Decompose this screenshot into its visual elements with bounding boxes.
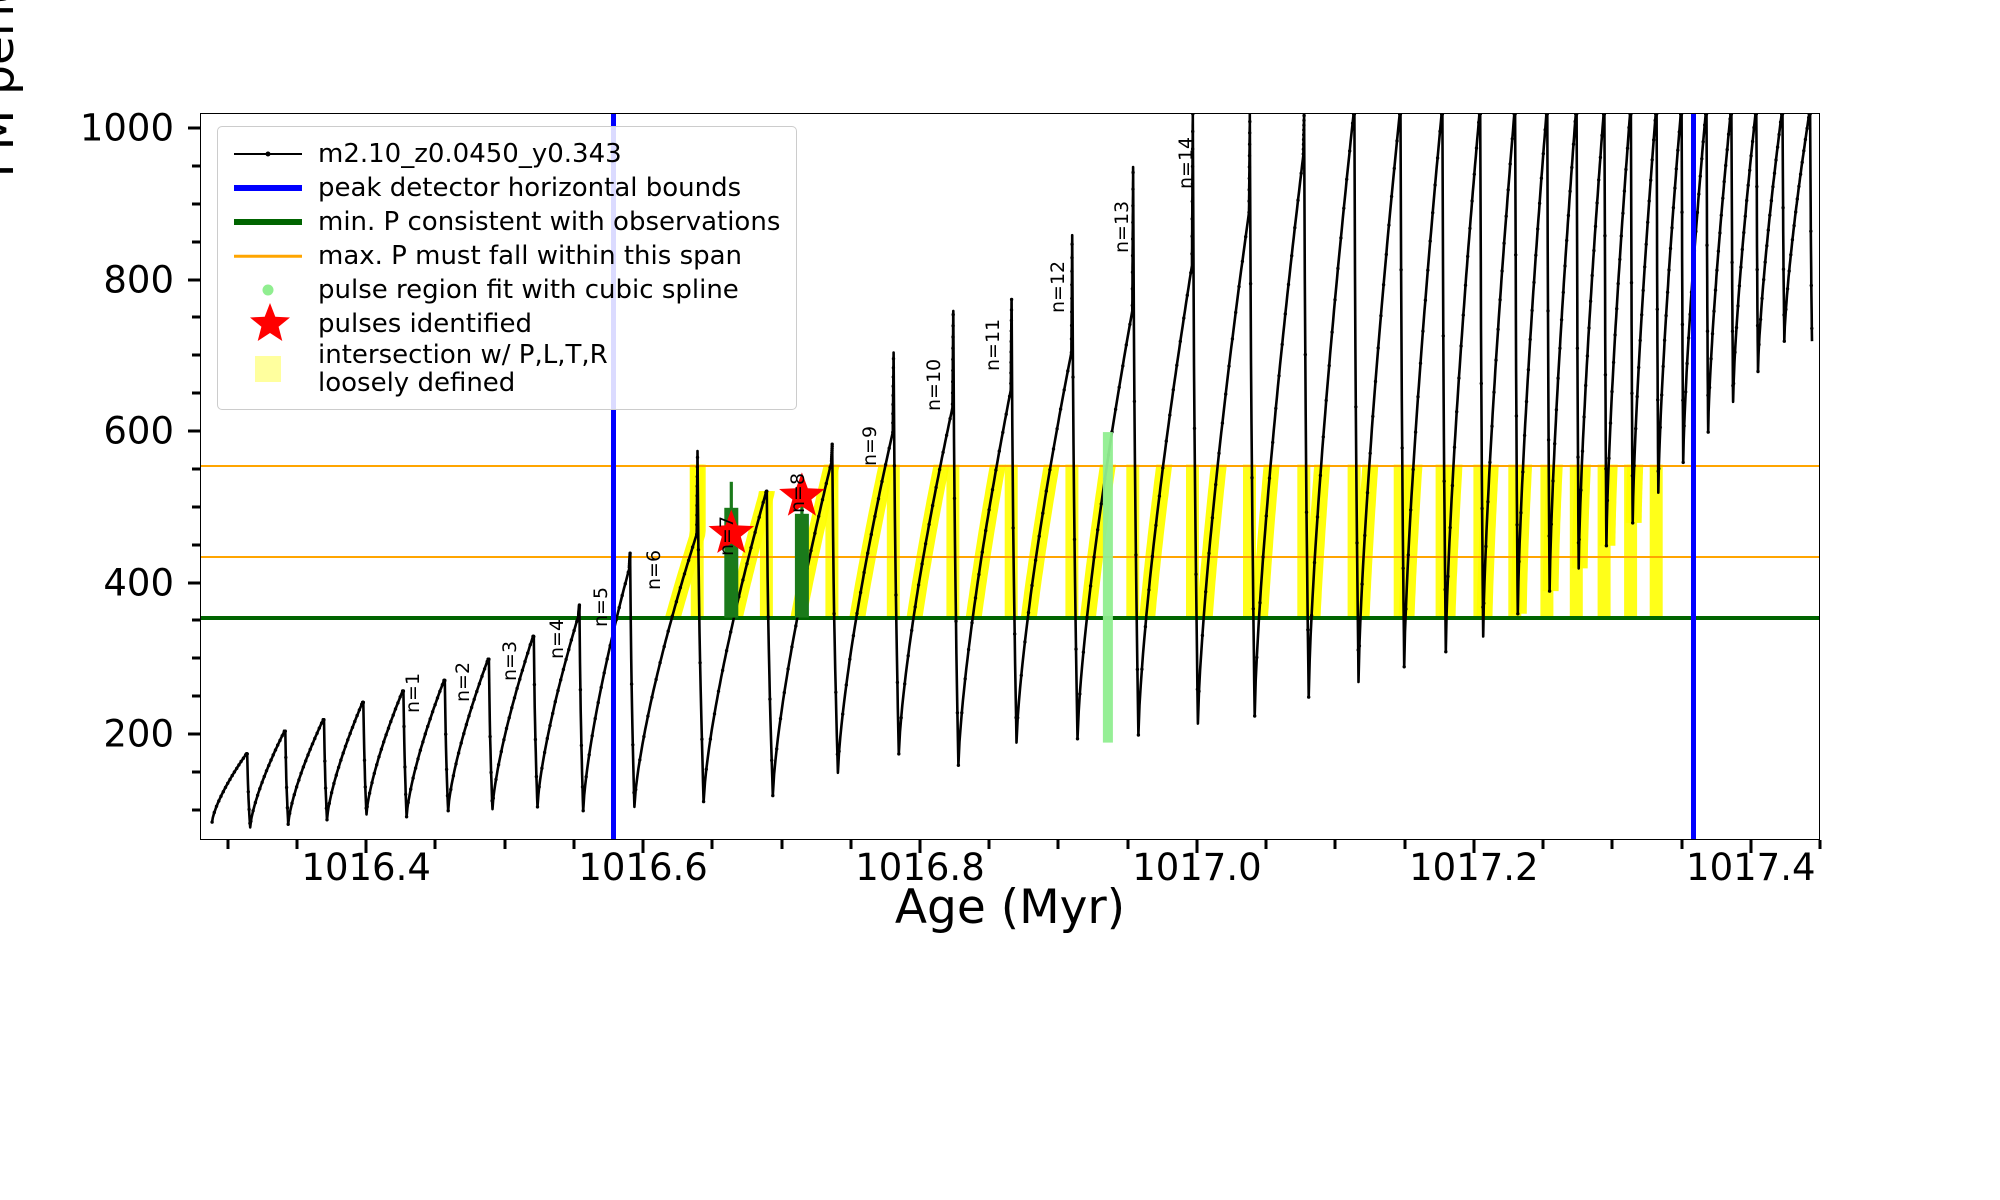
pulse-number-label: n=6 bbox=[643, 550, 665, 590]
pulse-number-label: n=9 bbox=[859, 426, 881, 466]
x-axis-label: Age (Myr) bbox=[200, 880, 1820, 935]
legend-item-label: peak detector horizontal bounds bbox=[318, 174, 741, 202]
legend-key-star-icon bbox=[232, 310, 304, 338]
x-tick-mark-minor bbox=[1611, 840, 1614, 849]
x-tick-mark bbox=[1195, 840, 1198, 853]
legend-key-thick-line-icon bbox=[232, 174, 304, 202]
x-tick-mark bbox=[365, 840, 368, 853]
legend-key-dot-icon bbox=[232, 276, 304, 304]
plot-area: n=1n=2n=3n=4n=5n=6n=7n=8n=9n=10n=11n=12n… bbox=[200, 113, 1820, 840]
legend-item-label: pulses identified bbox=[318, 310, 532, 338]
legend-key-thin-line-icon bbox=[232, 242, 304, 270]
pulse-number-label: n=7 bbox=[716, 516, 738, 556]
y-tick-label: 200 bbox=[103, 712, 188, 755]
x-tick-mark-minor bbox=[434, 840, 437, 849]
x-tick-mark-minor bbox=[226, 840, 229, 849]
legend-item[interactable]: pulse region fit with cubic spline bbox=[232, 273, 780, 307]
x-tick-mark-minor bbox=[1057, 840, 1060, 849]
legend-item[interactable]: peak detector horizontal bounds bbox=[232, 171, 780, 205]
x-tick-mark-minor bbox=[1403, 840, 1406, 849]
y-tick-label: 800 bbox=[103, 258, 188, 301]
figure-canvas: FM period (days) 2004006008001000 Age (M… bbox=[0, 0, 2000, 1200]
legend-key-square-icon bbox=[232, 355, 304, 383]
legend-box: m2.10_z0.0450_y0.343peak detector horizo… bbox=[217, 126, 797, 410]
pulse-number-label: n=5 bbox=[590, 587, 612, 627]
y-tick-label: 1000 bbox=[80, 107, 188, 150]
legend-item[interactable]: max. P must fall within this span bbox=[232, 239, 780, 273]
x-tick-mark-minor bbox=[988, 840, 991, 849]
legend-item-label: min. P consistent with observations bbox=[318, 208, 780, 236]
pulse-number-label: n=13 bbox=[1111, 200, 1133, 252]
x-tick-mark-minor bbox=[849, 840, 852, 849]
legend-item-label: m2.10_z0.0450_y0.343 bbox=[318, 140, 622, 168]
x-tick-mark bbox=[919, 840, 922, 853]
pulse-number-label: n=12 bbox=[1047, 261, 1069, 313]
legend-item-label: max. P must fall within this span bbox=[318, 242, 742, 270]
pulse-number-label: n=14 bbox=[1175, 137, 1197, 189]
x-tick-mark-minor bbox=[295, 840, 298, 849]
y-axis-label: FM period (days) bbox=[0, 0, 25, 300]
legend-key-line-marker-icon bbox=[232, 140, 304, 168]
legend-item[interactable]: pulses identified bbox=[232, 307, 780, 341]
legend-item[interactable]: m2.10_z0.0450_y0.343 bbox=[232, 137, 780, 171]
pulse-number-label: n=3 bbox=[499, 641, 521, 681]
legend-item[interactable]: intersection w/ P,L,T,R loosely defined bbox=[232, 341, 780, 397]
pulse-number-label: n=4 bbox=[546, 618, 568, 658]
x-tick-mark-minor bbox=[780, 840, 783, 849]
legend-item-label: pulse region fit with cubic spline bbox=[318, 276, 739, 304]
x-tick-mark-minor bbox=[1680, 840, 1683, 849]
x-tick-mark-minor bbox=[1334, 840, 1337, 849]
pulse-number-label: n=8 bbox=[787, 473, 809, 513]
x-tick-mark bbox=[1749, 840, 1752, 853]
x-tick-mark bbox=[1472, 840, 1475, 853]
x-tick-mark-minor bbox=[1126, 840, 1129, 849]
legend-key-thick-line-icon bbox=[232, 208, 304, 236]
x-tick-mark bbox=[642, 840, 645, 853]
x-tick-mark-minor bbox=[1265, 840, 1268, 849]
pulse-number-label: n=1 bbox=[402, 673, 424, 713]
x-tick-mark-minor bbox=[1542, 840, 1545, 849]
x-tick-mark-minor bbox=[1819, 840, 1822, 849]
x-tick-mark-minor bbox=[711, 840, 714, 849]
x-tick-mark-minor bbox=[503, 840, 506, 849]
pulse-number-label: n=2 bbox=[452, 662, 474, 702]
legend-item-label: intersection w/ P,L,T,R loosely defined bbox=[318, 341, 608, 397]
x-tick-mark-minor bbox=[572, 840, 575, 849]
pulse-number-label: n=11 bbox=[982, 319, 1004, 371]
y-tick-label: 600 bbox=[103, 410, 188, 453]
y-tick-label: 400 bbox=[103, 561, 188, 604]
pulse-number-label: n=10 bbox=[923, 359, 945, 411]
legend-item[interactable]: min. P consistent with observations bbox=[232, 205, 780, 239]
